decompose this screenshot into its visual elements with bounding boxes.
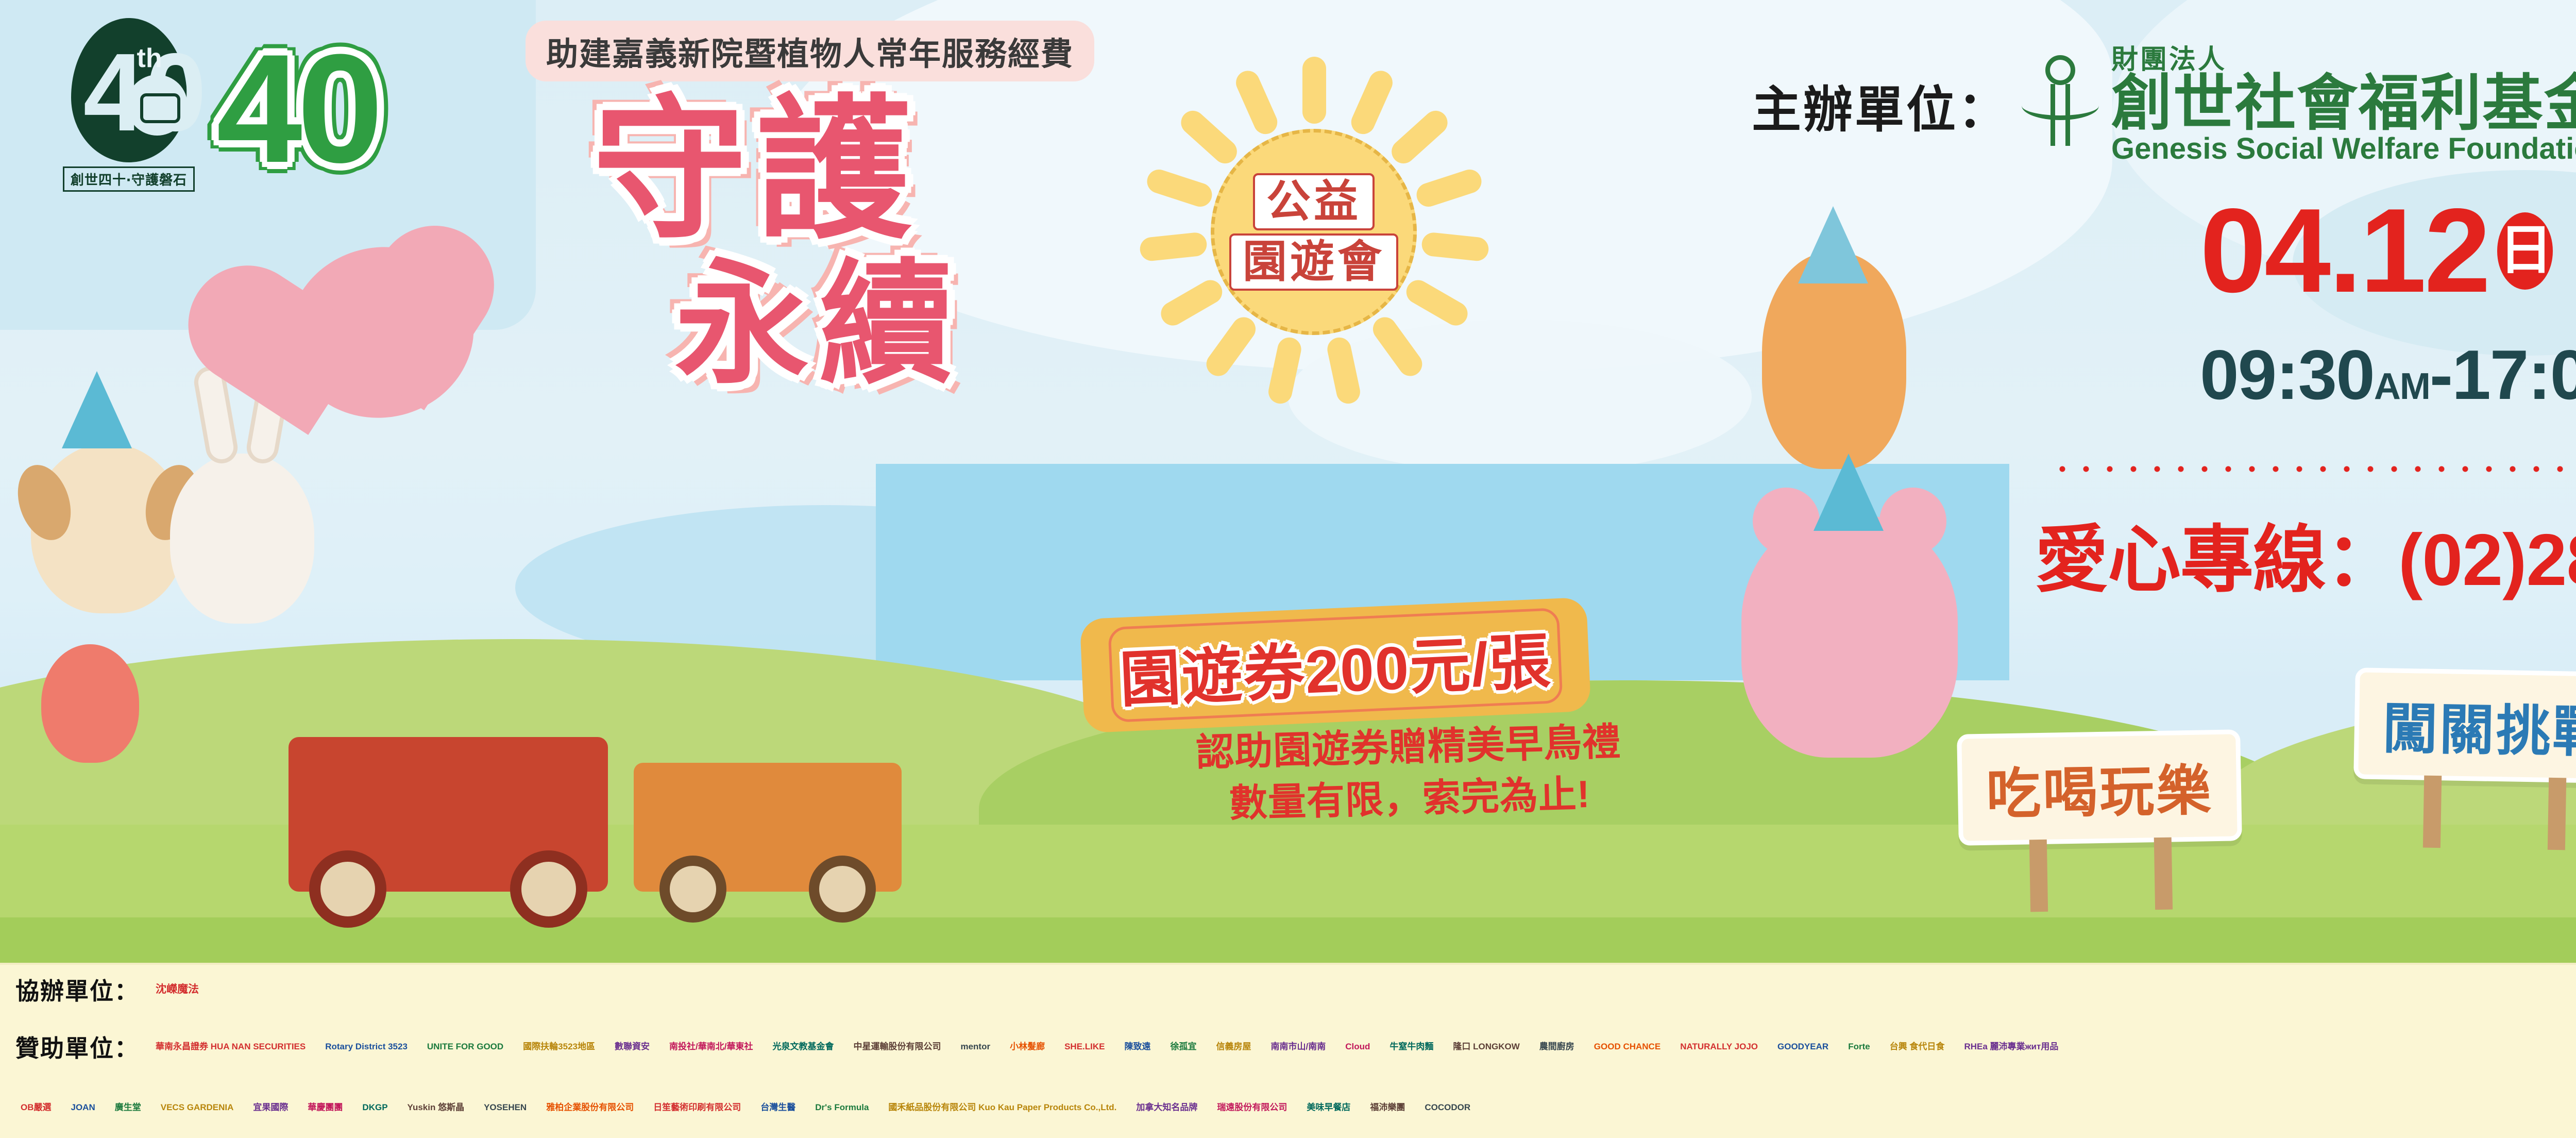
title-line-2: 永續 — [675, 258, 963, 392]
party-hat-cat — [1798, 206, 1868, 283]
caregiver-icon — [127, 75, 188, 136]
truck-wheel-left — [659, 856, 726, 923]
sponsor-logo: 華慶團團 — [302, 1085, 348, 1130]
bear-ear-left — [1753, 488, 1820, 555]
hotline-text: 愛心專線：(02)2835-7700 分機115 園遊會小組 — [2035, 500, 2576, 606]
sun-badge-line-1: 公益 — [1253, 173, 1375, 230]
sponsor-row-2: OB嚴選JOAN廣生堂VECS GARDENIA宜果國際華慶團團DKGPYusk… — [0, 1079, 2576, 1136]
sponsor-logo: Cloud — [1340, 1025, 1375, 1069]
sponsor-logo: 小林髮廊 — [1005, 1025, 1050, 1069]
emblem-caption: 創世四十‧守護磐石 — [63, 166, 195, 192]
sponsor-logo: 光泉文教基金會 — [767, 1025, 839, 1069]
sponsor-logo: RHEa 麗沛專業жит用品 — [1959, 1025, 2063, 1069]
event-time-row: 09:30 AM - 17:00 PM — [2200, 334, 2576, 415]
time-start-suffix: AM — [2374, 365, 2430, 408]
sponsor-logo: Rotary District 3523 — [320, 1025, 413, 1069]
genesis-text-block: 財團法人 創世社會福利基金會 Genesis Social Welfare Fo… — [2111, 46, 2576, 164]
dog-ear-left — [9, 458, 80, 547]
board-eat-drink-play: 吃喝玩樂 — [1957, 729, 2242, 846]
organizer-label: 主辦單位： — [1752, 70, 2009, 141]
event-subtitle: 助建嘉義新院暨植物人常年服務經費 — [526, 21, 1094, 81]
sponsor-logo: 台灣生醫 — [755, 1085, 801, 1130]
foundation-name: 創世社會福利基金會 — [2111, 73, 2576, 134]
event-weekday-badge: 日 — [2497, 212, 2553, 290]
dog-character — [31, 443, 185, 613]
sponsor-logo: COCODOR — [1419, 1085, 1476, 1130]
sponsor-logo: 中星運輸股份有限公司 — [848, 1025, 946, 1069]
dotted-divider — [2050, 464, 2576, 474]
sponsor-logo: GOOD CHANCE — [1589, 1025, 1666, 1069]
time-end: 17:00 — [2452, 334, 2576, 415]
organizer-block: 主辦單位： 財團法人 創世社會福利基金會 Genesis Social Welf… — [1752, 46, 2576, 164]
sponsor-logo: 南投社/華南北/華東社 — [664, 1025, 758, 1069]
sponsor-logo: Forte — [1843, 1025, 1875, 1069]
sponsor-logo: 信義房屋 — [1211, 1025, 1257, 1069]
sponsor-logo: 國際扶輪3523地區 — [518, 1025, 600, 1069]
date-time-block: 04.12 日 09:30 AM - 17:00 PM — [2200, 196, 2576, 415]
sponsor-logo: SHE.LIKE — [1059, 1025, 1110, 1069]
sponsor-logo: JOAN — [66, 1085, 100, 1130]
coorganizer-logo-list: 沈嶸魔法 — [150, 967, 204, 1012]
sponsor-logo: VECS GARDENIA — [156, 1085, 239, 1130]
party-hat-bear — [1814, 454, 1884, 531]
sponsor-logo: 數聯資安 — [609, 1025, 655, 1069]
food-cart — [289, 737, 608, 892]
board-game-challenge: 闖關挑戰 — [2353, 667, 2576, 784]
title-line-1: 守護 — [592, 93, 920, 247]
sponsor-logo: NATURALLY JOJO — [1675, 1025, 1763, 1069]
sponsor-logo-list-1: 華南永昌證券 HUA NAN SECURITIESRotary District… — [150, 1025, 2063, 1069]
sponsor-logo: Yuskin 悠斯晶 — [402, 1085, 470, 1130]
genesis-logo-icon — [2022, 51, 2099, 159]
voucher-price-tag: 園遊券200元/張 — [1080, 597, 1591, 733]
sponsor-logo: YOSEHEN — [479, 1085, 532, 1130]
party-hat-dog — [62, 371, 132, 448]
sponsor-logo-list-2: OB嚴選JOAN廣生堂VECS GARDENIA宜果國際華慶團團DKGPYusk… — [15, 1085, 1476, 1130]
sun-badge: 公益 園遊會 — [1159, 77, 1468, 387]
sponsor-logo: 農間廚房 — [1534, 1025, 1580, 1069]
sponsor-logo: 沈嶸魔法 — [150, 967, 204, 1012]
sponsor-logo: 福沛樂團 — [1365, 1085, 1410, 1130]
coorganizer-label: 協辦單位： — [15, 973, 139, 1007]
sponsor-logo: 日笙藝術印刷有限公司 — [648, 1085, 746, 1130]
truck-wheel-right — [809, 856, 876, 923]
coorganizer-row: 協辦單位： 沈嶸魔法 — [0, 965, 2576, 1014]
emblem-ordinal: th — [137, 43, 162, 74]
event-banner: 40 th 創世四十‧守護磐石 40 助建嘉義新院暨植物人常年服務經費 守護 永… — [0, 0, 2576, 1138]
voucher-note: 認助園遊券贈精美早鳥禮 數量有限，索完為止! — [1112, 714, 1707, 832]
sponsor-logo: 隆口 LONGKOW — [1448, 1025, 1524, 1069]
cart-wheel-right — [510, 850, 587, 928]
sponsor-logo: mentor — [955, 1025, 995, 1069]
sponsor-logo: 美味早餐店 — [1301, 1085, 1355, 1130]
event-date: 04.12 — [2200, 196, 2489, 306]
bear-character — [1741, 515, 1958, 758]
emblem-egg-shape: 40 th — [71, 18, 187, 162]
sponsor-row-1: 贊助單位： 華南永昌證券 HUA NAN SECURITIESRotary Di… — [0, 1014, 2576, 1079]
sponsor-logo: GOODYEAR — [1772, 1025, 1834, 1069]
sponsor-logo: 加拿大知名品牌 — [1131, 1085, 1202, 1130]
sun-core: 公益 園遊會 — [1211, 129, 1417, 335]
big-anniversary-number: 40 — [216, 31, 378, 186]
sponsor-logo: 華南永昌證券 HUA NAN SECURITIES — [150, 1025, 311, 1069]
sponsor-logo: 國禾紙品股份有限公司 Kuo Kau Paper Products Co.,Lt… — [883, 1085, 1122, 1130]
sponsor-logo: UNITE FOR GOOD — [422, 1025, 509, 1069]
sponsor-logo: 台興 食代日食 — [1885, 1025, 1950, 1069]
foundation-name-en: Genesis Social Welfare Foundation — [2111, 134, 2576, 164]
hot-air-balloon — [41, 644, 139, 763]
ice-cream-truck — [634, 763, 902, 892]
event-date-row: 04.12 日 — [2200, 196, 2576, 306]
sponsor-logo: 南南市山/南南 — [1266, 1025, 1331, 1069]
sponsor-logo: 宜果國際 — [248, 1085, 293, 1130]
cart-wheel-left — [309, 850, 386, 928]
sponsor-logo: Dr's Formula — [810, 1085, 874, 1130]
sponsor-logo: 瑞遠股份有限公司 — [1212, 1085, 1292, 1130]
board-label-1: 吃喝玩樂 — [1986, 760, 2213, 825]
board-label-2: 闖關挑戰 — [2382, 698, 2576, 763]
time-separator: - — [2430, 334, 2452, 415]
sponsor-logo: 廣生堂 — [110, 1085, 146, 1130]
sponsor-logo: DKGP — [357, 1085, 393, 1130]
voucher-price-text: 園遊券200元/張 — [1118, 628, 1553, 714]
sponsor-logo: 徐孤宜 — [1165, 1025, 1202, 1069]
time-start: 09:30 — [2200, 334, 2374, 415]
rabbit-character — [170, 454, 314, 624]
sponsor-logo: 雅柏企業股份有限公司 — [541, 1085, 639, 1130]
sun-badge-line-2: 園遊會 — [1229, 233, 1398, 291]
sponsor-logo: 陳致遠 — [1120, 1025, 1156, 1069]
sponsor-strip: 協辦單位： 沈嶸魔法 贊助單位： 華南永昌證券 HUA NAN SECURITI… — [0, 963, 2576, 1138]
sponsor-logo: OB嚴選 — [15, 1085, 57, 1130]
bear-ear-right — [1879, 488, 1946, 555]
sponsor-label: 贊助單位： — [15, 1030, 139, 1064]
voucher-price-inner: 園遊券200元/張 — [1108, 608, 1563, 723]
anniversary-emblem: 40 th 創世四十‧守護磐石 — [49, 18, 209, 192]
sponsor-logo: 牛窒牛肉麵 — [1384, 1025, 1438, 1069]
cat-character — [1762, 253, 1906, 469]
